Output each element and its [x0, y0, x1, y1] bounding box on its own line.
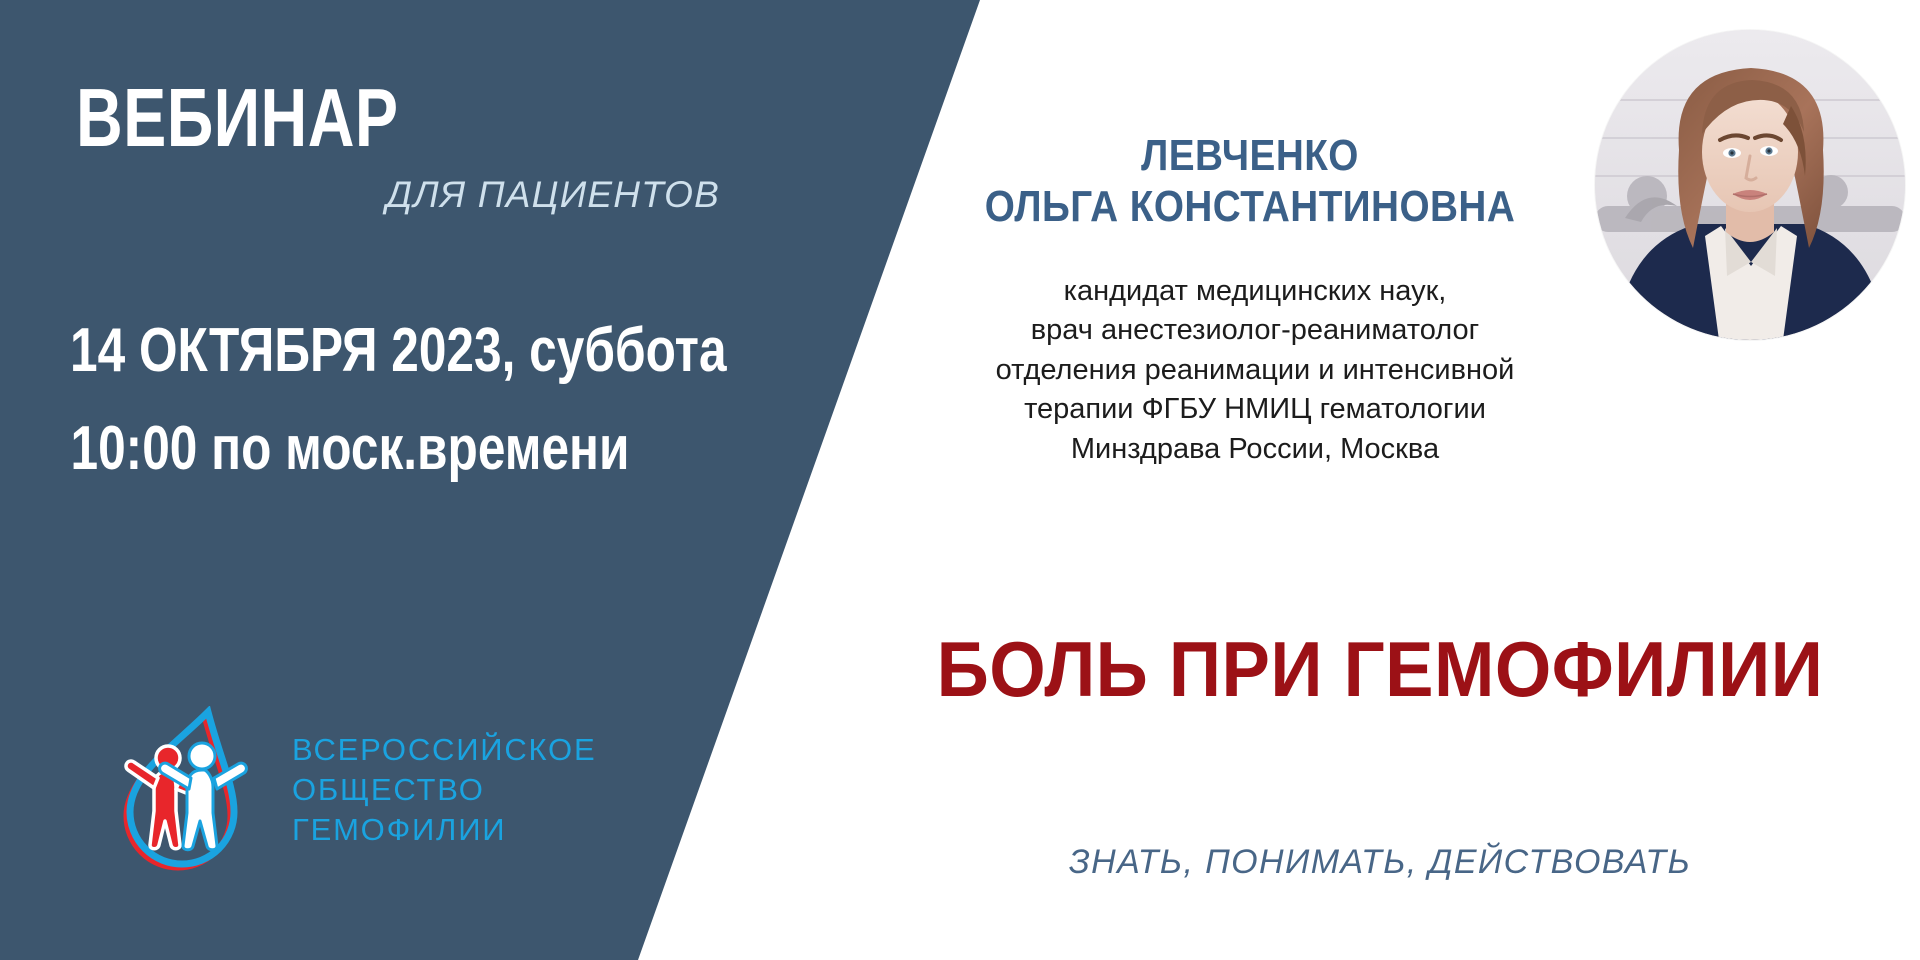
speaker-bio-line: врач анестезиолог-реаниматолог	[930, 311, 1580, 350]
speaker-bio-line: терапии ФГБУ НМИЦ гематологии	[930, 390, 1580, 429]
speaker-bio: кандидат медицинских наук, врач анестези…	[930, 272, 1580, 469]
logo-line-3: ГЕМОФИЛИИ	[292, 812, 506, 847]
speaker-avatar	[1595, 30, 1905, 340]
speaker-bio-line: отделения реанимации и интенсивной	[930, 351, 1580, 390]
organization-logo: ВСЕРОССИЙСКОЕ ОБЩЕСТВО ГЕМОФИЛИИ	[112, 706, 596, 874]
event-date: 14 ОКТЯБРЯ 2023, суббота	[70, 320, 630, 382]
logo-line-1: ВСЕРОССИЙСКОЕ	[292, 732, 596, 767]
speaker-bio-line: Минздрава России, Москва	[930, 430, 1580, 469]
speaker-name: ЛЕВЧЕНКО ОЛЬГА КОНСТАНТИНОВНА	[942, 130, 1558, 232]
speaker-bio-line: кандидат медицинских наук,	[930, 272, 1580, 311]
speaker-given-name: ОЛЬГА КОНСТАНТИНОВНА	[985, 182, 1515, 231]
webinar-topic-title: БОЛЬ ПРИ ГЕМОФИЛИИ	[915, 630, 1845, 708]
logo-line-2: ОБЩЕСТВО	[292, 772, 485, 807]
event-time: 10:00 по моск.времени	[70, 418, 630, 480]
webinar-poster: ВЕБИНАР ДЛЯ ПАЦИЕНТОВ 14 ОКТЯБРЯ 2023, с…	[0, 0, 1920, 960]
organization-name: ВСЕРОССИЙСКОЕ ОБЩЕСТВО ГЕМОФИЛИИ	[292, 730, 596, 849]
webinar-heading: ВЕБИНАР	[76, 76, 398, 159]
speaker-surname: ЛЕВЧЕНКО	[1141, 131, 1359, 180]
organization-tagline: ЗНАТЬ, ПОНИМАТЬ, ДЕЙСТВОВАТЬ	[880, 845, 1880, 879]
event-datetime-block: 14 ОКТЯБРЯ 2023, суббота 10:00 по моск.в…	[0, 320, 700, 480]
webinar-audience-subtitle: ДЛЯ ПАЦИЕНТОВ	[386, 176, 720, 213]
hemophilia-society-emblem-icon	[112, 706, 270, 874]
left-column: ВЕБИНАР ДЛЯ ПАЦИЕНТОВ 14 ОКТЯБРЯ 2023, с…	[0, 0, 1000, 960]
